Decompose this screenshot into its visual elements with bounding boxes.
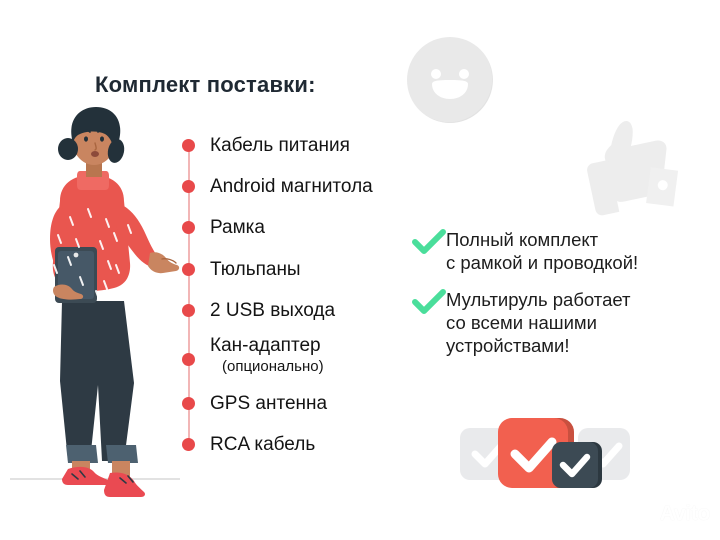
list-item-label: Android магнитола bbox=[210, 176, 373, 198]
list-item-label: Кан-адаптер (опционально) bbox=[210, 335, 324, 375]
check-icon bbox=[412, 229, 446, 255]
benefit-line: с рамкой и проводкой! bbox=[446, 251, 638, 274]
bullet-dot bbox=[182, 353, 195, 366]
checkbox-tile-dark bbox=[552, 442, 598, 488]
bullet-dot bbox=[182, 263, 195, 276]
smiley-face-icon bbox=[404, 34, 496, 126]
benefit-line: со всеми нашими bbox=[446, 311, 631, 334]
list-item-label: Тюльпаны bbox=[210, 259, 301, 281]
bullet-dot bbox=[182, 221, 195, 234]
list-item: Android магнитола bbox=[180, 170, 420, 212]
benefit-line: Мультируль работает bbox=[446, 288, 631, 311]
checkbox-group-icon bbox=[458, 410, 634, 494]
check-icon bbox=[412, 289, 446, 315]
list-item-label: Кабель питания bbox=[210, 135, 350, 157]
benefits-list: Полный комплект с рамкой и проводкой! Му… bbox=[412, 228, 702, 370]
benefit-item: Мультируль работает со всеми нашими устр… bbox=[412, 288, 702, 358]
benefit-line: устройствами! bbox=[446, 334, 631, 357]
list-item-label: Рамка bbox=[210, 217, 265, 239]
bullet-dot bbox=[182, 438, 195, 451]
list-item: Рамка bbox=[180, 212, 420, 253]
list-item: Тюльпаны bbox=[180, 253, 420, 295]
bullet-dot bbox=[182, 139, 195, 152]
list-item-label: RCA кабель bbox=[210, 434, 315, 456]
benefit-item: Полный комплект с рамкой и проводкой! bbox=[412, 228, 702, 275]
avito-watermark: Avito bbox=[635, 502, 710, 526]
spec-list: Кабель питания Android магнитола Рамка Т… bbox=[180, 130, 420, 469]
bullet-dot bbox=[182, 397, 195, 410]
poster-canvas: Комплект поставки: Кабель питания Androi… bbox=[0, 0, 720, 540]
benefit-text: Мультируль работает со всеми нашими устр… bbox=[446, 288, 631, 358]
avito-watermark-text: Avito bbox=[660, 502, 710, 526]
bullet-dot bbox=[182, 180, 195, 193]
thumbs-up-icon bbox=[572, 112, 684, 220]
list-item-label: GPS антенна bbox=[210, 393, 327, 415]
list-item: 2 USB выхода bbox=[180, 295, 420, 335]
avito-logo-icon bbox=[635, 503, 657, 525]
list-item: Кабель питания bbox=[180, 130, 420, 170]
list-item: GPS антенна bbox=[180, 387, 420, 429]
checkbox-tile-red bbox=[498, 418, 568, 488]
list-item-label-note: (опционально) bbox=[222, 358, 324, 375]
page-title: Комплект поставки: bbox=[95, 72, 316, 98]
list-item-label: 2 USB выхода bbox=[210, 300, 335, 322]
bullet-dot bbox=[182, 304, 195, 317]
list-item-label-main: Кан-адаптер bbox=[210, 335, 321, 356]
checkbox-tile-gray-left bbox=[460, 428, 512, 480]
checkbox-tile-gray-right bbox=[578, 428, 630, 480]
benefit-line: Полный комплект bbox=[446, 228, 638, 251]
benefit-text: Полный комплект с рамкой и проводкой! bbox=[446, 228, 638, 275]
list-item: Кан-адаптер (опционально) bbox=[180, 335, 420, 387]
list-item: RCA кабель bbox=[180, 429, 420, 469]
woman-pointing-illustration bbox=[10, 105, 180, 505]
